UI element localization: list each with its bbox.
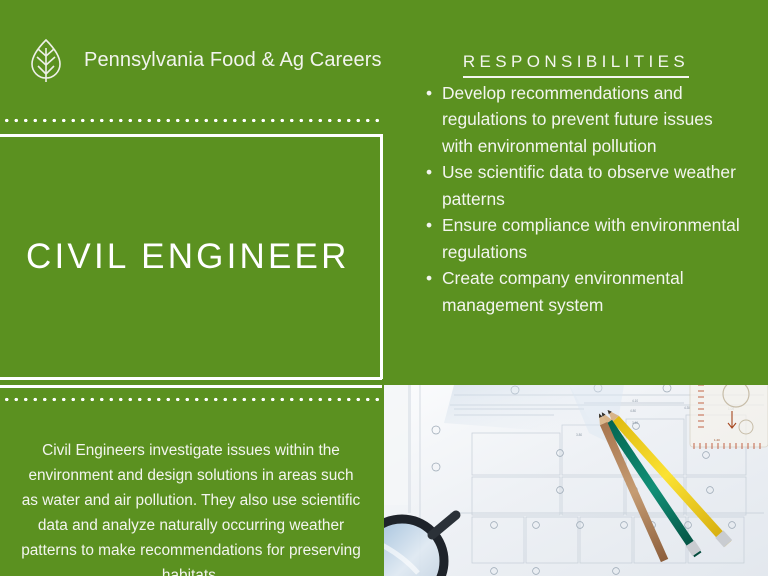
bullet-glyph: • xyxy=(426,80,432,106)
list-item-text: Create company environmental management … xyxy=(442,268,684,314)
list-item: • Ensure compliance with environmental r… xyxy=(424,212,748,265)
list-item-text: Develop recommendations and regulations … xyxy=(442,83,713,156)
career-profile-poster: Pennsylvania Food & Ag Careers CIVIL ENG… xyxy=(0,0,768,576)
bullet-glyph: • xyxy=(426,265,432,291)
brand-name: Pennsylvania Food & Ag Careers xyxy=(84,49,382,72)
svg-text:3.60: 3.60 xyxy=(632,421,638,425)
page-title: CIVIL ENGINEER xyxy=(26,238,350,277)
bullet-glyph: • xyxy=(426,212,432,238)
blueprint-photo: 4.104.80 4.351.05 3.603.80 xyxy=(384,385,768,576)
leaf-icon xyxy=(22,36,70,84)
svg-text:4.35: 4.35 xyxy=(684,406,690,410)
brand-header: Pennsylvania Food & Ag Careers xyxy=(0,0,382,120)
bullet-glyph: • xyxy=(426,159,432,185)
list-item: • Create company environmental managemen… xyxy=(424,265,748,318)
list-item: • Develop recommendations and regulation… xyxy=(424,80,748,159)
svg-text:1.20: 1.20 xyxy=(714,438,720,442)
list-item-text: Use scientific data to observe weather p… xyxy=(442,162,736,208)
job-title-block: CIVIL ENGINEER xyxy=(0,137,382,378)
horizontal-rule-mid-upper xyxy=(0,377,382,380)
list-item: • Use scientific data to observe weather… xyxy=(424,159,748,212)
horizontal-rule-mid-lower xyxy=(0,385,382,388)
vertical-divider xyxy=(380,134,383,379)
description-block: Civil Engineers investigate issues withi… xyxy=(0,412,382,562)
job-description: Civil Engineers investigate issues withi… xyxy=(20,439,362,576)
left-column: Pennsylvania Food & Ag Careers CIVIL ENG… xyxy=(0,0,382,576)
responsibilities-panel: RESPONSIBILITIES • Develop recommendatio… xyxy=(384,0,768,384)
list-item-text: Ensure compliance with environmental reg… xyxy=(442,215,740,261)
dotted-divider-top xyxy=(0,118,382,123)
dotted-divider-bottom xyxy=(0,397,382,402)
responsibilities-list: • Develop recommendations and regulation… xyxy=(424,80,748,318)
responsibilities-heading: RESPONSIBILITIES xyxy=(463,52,689,78)
svg-text:4.10: 4.10 xyxy=(632,399,638,403)
svg-text:4.80: 4.80 xyxy=(630,409,636,413)
